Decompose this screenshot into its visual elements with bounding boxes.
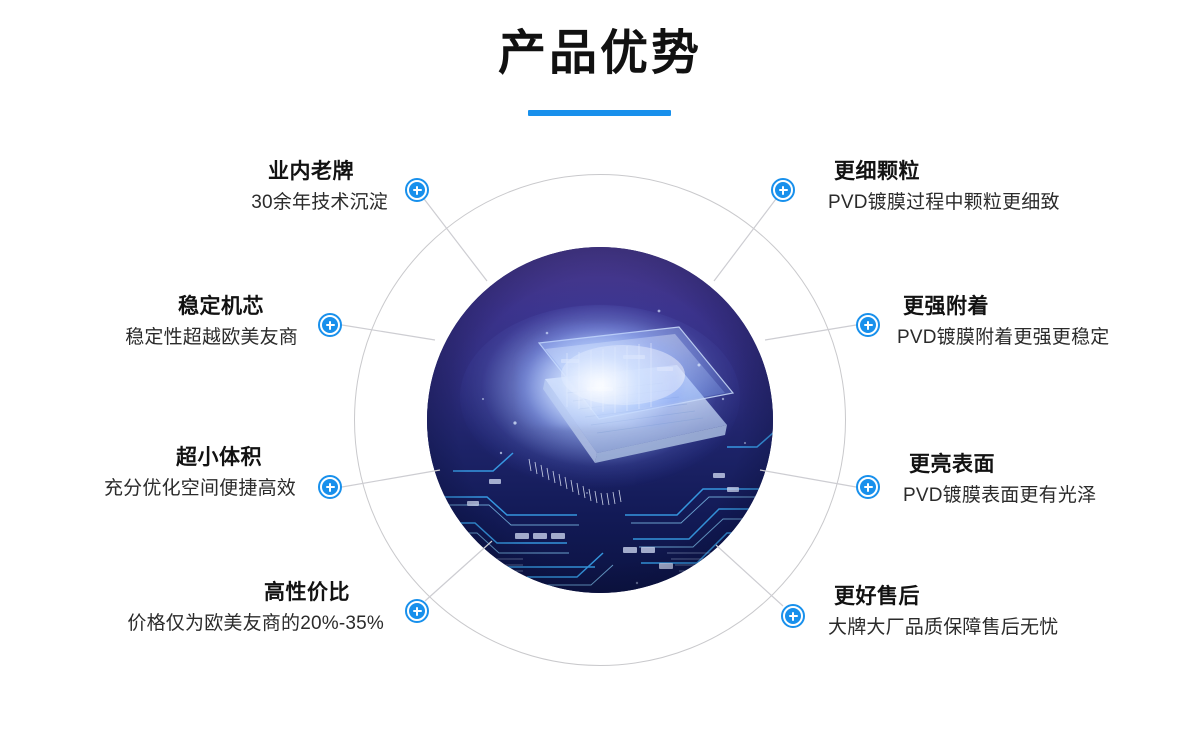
- plus-marker-7[interactable]: [856, 475, 880, 499]
- plus-marker-3[interactable]: [318, 475, 342, 499]
- feature-title: 更好售后: [828, 582, 1168, 612]
- plus-marker-6[interactable]: [856, 313, 880, 337]
- feature-label-left-4[interactable]: 高性价比 价格仅为欧美友商的20%-35%: [44, 578, 384, 640]
- plus-marker-4[interactable]: [405, 599, 429, 623]
- product-advantages-diagram: 业内老牌 30余年技术沉淀 稳定机芯 稳定性超越欧美友商 超小体积 充分优化空间…: [0, 0, 1200, 750]
- feature-label-right-2[interactable]: 更强附着 PVD镀膜附着更强更稳定: [897, 292, 1200, 354]
- feature-label-left-1[interactable]: 业内老牌 30余年技术沉淀: [48, 157, 388, 219]
- feature-desc: PVD镀膜表面更有光泽: [903, 480, 1200, 512]
- feature-desc: 充分优化空间便捷高效: [0, 473, 296, 505]
- plus-icon: [860, 479, 876, 495]
- feature-desc: PVD镀膜附着更强更稳定: [897, 322, 1200, 354]
- plus-marker-2[interactable]: [318, 313, 342, 337]
- feature-title: 超小体积: [0, 443, 296, 473]
- feature-label-left-3[interactable]: 超小体积 充分优化空间便捷高效: [0, 443, 296, 505]
- plus-marker-8[interactable]: [781, 604, 805, 628]
- feature-label-left-2[interactable]: 稳定机芯 稳定性超越欧美友商: [0, 292, 298, 354]
- plus-icon: [409, 603, 425, 619]
- feature-title: 更亮表面: [903, 450, 1200, 480]
- feature-title: 稳定机芯: [0, 292, 298, 322]
- feature-label-right-4[interactable]: 更好售后 大牌大厂品质保障售后无忧: [828, 582, 1168, 644]
- plus-icon: [322, 479, 338, 495]
- feature-desc: 稳定性超越欧美友商: [0, 322, 298, 354]
- plus-marker-5[interactable]: [771, 178, 795, 202]
- plus-icon: [785, 608, 801, 624]
- feature-label-right-1[interactable]: 更细颗粒 PVD镀膜过程中颗粒更细致: [828, 157, 1168, 219]
- feature-desc: 大牌大厂品质保障售后无忧: [828, 612, 1168, 644]
- plus-icon: [860, 317, 876, 333]
- feature-label-right-3[interactable]: 更亮表面 PVD镀膜表面更有光泽: [903, 450, 1200, 512]
- plus-marker-1[interactable]: [405, 178, 429, 202]
- feature-title: 更强附着: [897, 292, 1200, 322]
- feature-desc: 价格仅为欧美友商的20%-35%: [44, 608, 384, 640]
- plus-icon: [322, 317, 338, 333]
- feature-title: 业内老牌: [48, 157, 388, 187]
- plus-icon: [409, 182, 425, 198]
- plus-icon: [775, 182, 791, 198]
- feature-desc: PVD镀膜过程中颗粒更细致: [828, 187, 1168, 219]
- feature-desc: 30余年技术沉淀: [48, 187, 388, 219]
- feature-title: 更细颗粒: [828, 157, 1168, 187]
- feature-title: 高性价比: [44, 578, 384, 608]
